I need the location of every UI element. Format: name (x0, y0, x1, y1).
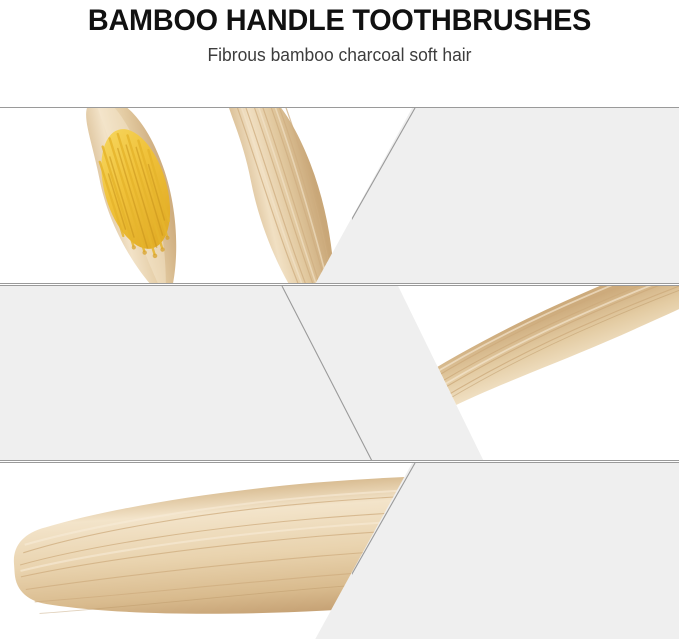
bamboo-handle-tip-image (0, 463, 412, 639)
page-title: BAMBOO HANDLE TOOTHBRUSHES (14, 3, 666, 39)
feature-panel-2: 2 Good Material (0, 285, 679, 461)
product-infographic: BAMBOO HANDLE TOOTHBRUSHES Fibrous bambo… (0, 0, 679, 639)
feature-photo-2 (279, 286, 679, 461)
feature-photo-1 (0, 108, 412, 284)
feature-panel-1: 1 Natural material (0, 107, 679, 284)
page-subtitle: Fibrous bamboo charcoal soft hair (10, 43, 669, 67)
feature-photo-3 (0, 463, 412, 639)
feature-panel-3: 3 Feel Comfortable (0, 462, 679, 639)
header: BAMBOO HANDLE TOOTHBRUSHES Fibrous bambo… (0, 0, 679, 100)
bamboo-toothbrush-head-image (0, 108, 412, 284)
bamboo-handle-diagonal-image (279, 286, 679, 461)
panel-2-diagonal-divider (262, 286, 382, 461)
